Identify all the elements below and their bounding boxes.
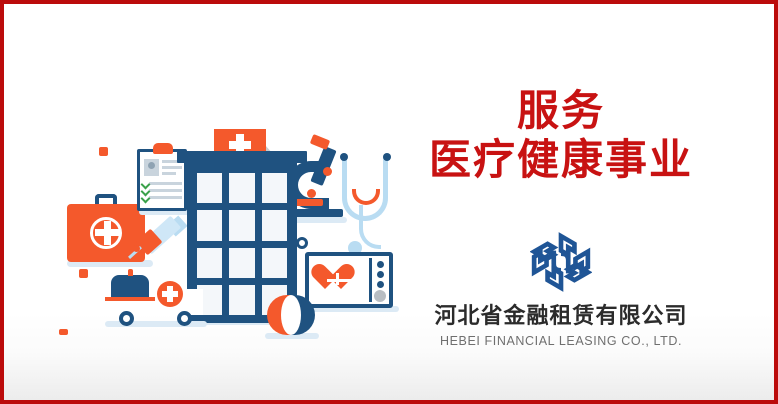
- clipboard-text-line: [149, 182, 182, 185]
- heart-monitor-indicator: [377, 281, 384, 288]
- stethoscope-cord-icon: [359, 205, 381, 249]
- first-aid-kit-cross-icon: [95, 229, 120, 236]
- stethoscope-earpiece-icon: [340, 153, 348, 161]
- ambulance-stripe: [105, 297, 155, 301]
- clipboard-text-line: [149, 189, 182, 192]
- microscope-accent-dot: [323, 167, 332, 176]
- microscope-stage-icon: [293, 199, 323, 206]
- headline-line-2: 医疗健康事业: [396, 139, 726, 182]
- capsule-notch: [281, 295, 301, 335]
- hospital-window: [229, 248, 254, 278]
- hospital-window: [262, 248, 287, 278]
- hospital-window: [197, 210, 222, 240]
- clipboard-text-line: [162, 166, 182, 169]
- hospital-window: [197, 248, 222, 278]
- clipboard-clip-icon: [153, 143, 173, 154]
- headline: 服务 医疗健康事业: [396, 90, 726, 182]
- promo-banner: 服务 医疗健康事业 河北省金融租赁有限公司 HEBEI FINANCIAL LE…: [0, 0, 778, 404]
- microscope-accent-dot: [307, 189, 316, 198]
- microscope-eyepiece-icon: [310, 134, 330, 150]
- company-name-cn: 河北省金融租赁有限公司: [396, 298, 726, 330]
- hospital-window: [229, 285, 254, 315]
- stethoscope-earpiece-icon: [383, 153, 391, 161]
- hospital-window: [229, 210, 254, 240]
- hospital-window: [197, 173, 222, 203]
- medical-healthcare-illustration: [59, 129, 389, 344]
- hospital-cross-icon: [229, 141, 251, 149]
- heart-monitor-indicator: [377, 271, 384, 278]
- heart-monitor-indicator: [377, 261, 384, 268]
- clipboard-photo-placeholder: [144, 159, 159, 176]
- headline-line-1: 服务: [396, 90, 726, 133]
- ambulance-wheel: [177, 311, 192, 326]
- clipboard-text-line: [149, 196, 182, 199]
- brand-block: 河北省金融租赁有限公司 HEBEI FINANCIAL LEASING CO.,…: [396, 232, 726, 348]
- clipboard-text-line: [162, 172, 176, 175]
- ambulance-light-icon: [128, 269, 133, 276]
- hebei-financial-leasing-logo-icon: [530, 232, 592, 292]
- confetti-square-icon: [79, 269, 88, 278]
- ecg-line-icon: [327, 279, 353, 282]
- company-name-en: HEBEI FINANCIAL LEASING CO., LTD.: [396, 334, 726, 348]
- confetti-square-icon: [99, 147, 108, 156]
- ambulance-wheel: [119, 311, 134, 326]
- hospital-window: [229, 173, 254, 203]
- syringe-drop-icon: [133, 245, 140, 252]
- hospital-window: [262, 173, 287, 203]
- ecg-line-icon: [336, 273, 339, 285]
- hospital-window: [262, 210, 287, 240]
- hospital-roof: [177, 151, 307, 163]
- confetti-square-icon: [59, 329, 68, 335]
- stethoscope-ring-icon: [296, 237, 308, 249]
- heart-monitor-knob: [374, 290, 386, 302]
- ambulance-cross-icon: [162, 291, 178, 297]
- ambulance-cab-icon: [111, 275, 149, 297]
